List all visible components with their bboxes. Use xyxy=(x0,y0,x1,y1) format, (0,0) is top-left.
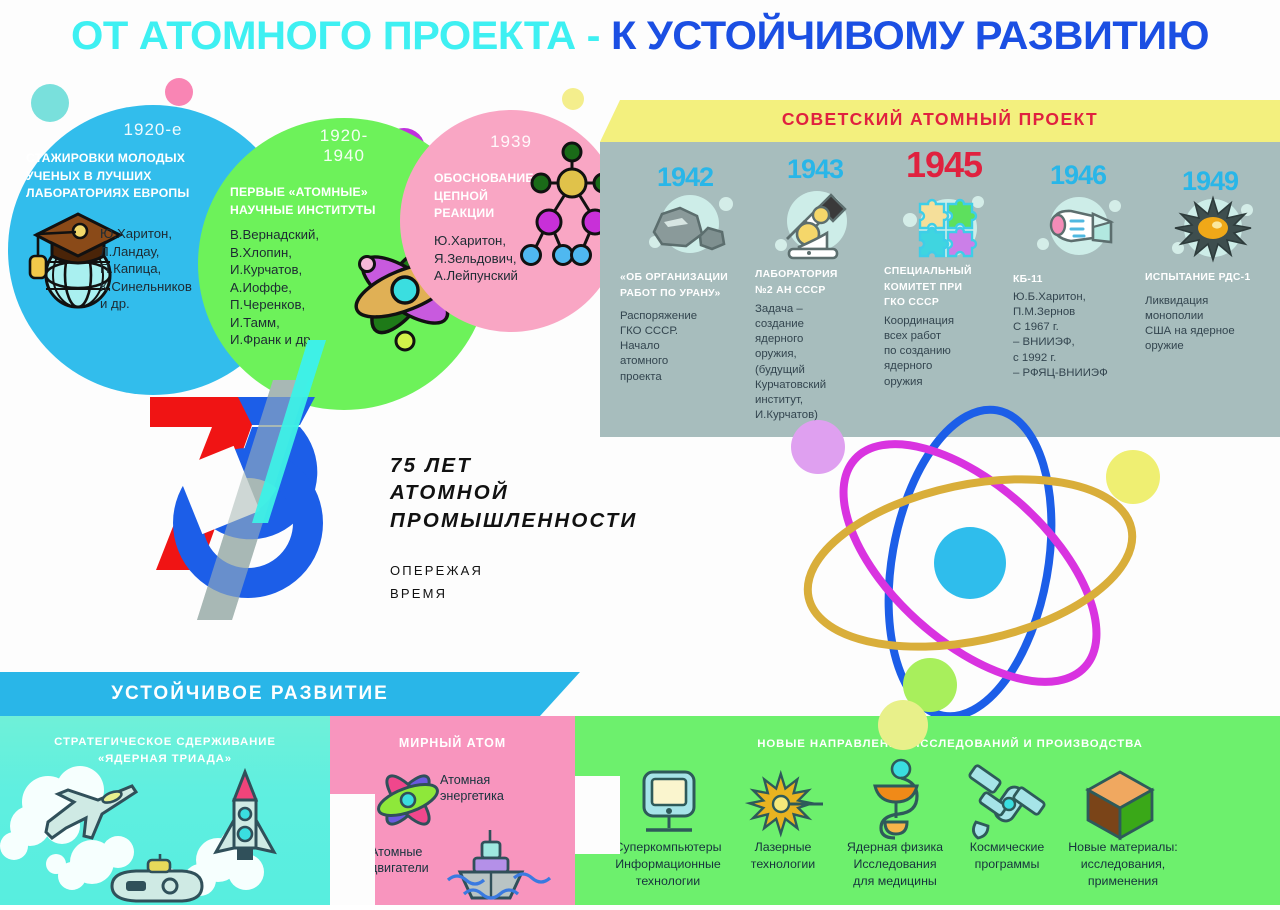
soviet-item-year: 1946 xyxy=(1013,160,1143,191)
soviet-item-heading: КБ-11 xyxy=(1013,272,1148,288)
satellite-icon xyxy=(966,764,1048,844)
panel-heading: СТРАТЕГИЧЕСКОЕ СДЕРЖИВАНИЕ «ЯДЕРНАЯ ТРИА… xyxy=(0,734,330,767)
infographic-poster: ОТ АТОМНОГО ПРОЕКТА - К УСТОЙЧИВОМУ РАЗВ… xyxy=(0,0,1280,905)
logo-title: 75 ЛЕТ АТОМНОЙ ПРОМЫШЛЕННОСТИ xyxy=(390,452,637,534)
decor-atom-illustration xyxy=(755,395,1185,725)
soviet-item-year: 1949 xyxy=(1145,166,1275,197)
soviet-item-body: Координация всех работ по созданию ядерн… xyxy=(884,314,1004,390)
soviet-item-body: Ю.Б.Харитон, П.М.Зернов С 1967 г. – ВНИИ… xyxy=(1013,290,1148,381)
sustainable-banner: УСТОЙЧИВОЕ РАЗВИТИЕ xyxy=(0,672,580,716)
decor-dot-yellow-bottom xyxy=(878,700,928,750)
soviet-project-banner-title: СОВЕТСКИЙ АТОМНЫЙ ПРОЕКТ xyxy=(600,109,1280,130)
panel-peaceful-atom[interactable]: МИРНЫЙ АТОМ Атомная энергетика xyxy=(330,716,575,905)
panel-heading: НОВЫЕ НАПРАВЛЕНИЯ ИССЛЕДОВАНИЙ И ПРОИЗВО… xyxy=(620,736,1280,753)
submarine-icon xyxy=(102,858,212,910)
tile-label-new-materials: Новые материалы: исследования, применени… xyxy=(1048,839,1198,890)
logo-75-mark xyxy=(140,335,390,625)
anniversary-logo xyxy=(140,335,390,625)
decor-dot-teal xyxy=(31,84,69,122)
decor-dot-pink xyxy=(165,78,193,106)
uranium-ore-icon xyxy=(642,194,742,264)
soviet-project-banner: СОВЕТСКИЙ АТОМНЫЙ ПРОЕКТ xyxy=(600,100,1280,142)
decor-dot-yellow xyxy=(562,88,584,110)
rocket-icon xyxy=(206,768,284,883)
medical-caduceus-icon xyxy=(855,760,937,844)
bomb-icon xyxy=(1031,194,1131,264)
panel-heading: МИРНЫЙ АТОМ xyxy=(330,734,575,752)
soviet-project-panel: 1942 «ОБ ОРГАНИЗАЦИИ РАБОТ ПО УРАНУ» Рас… xyxy=(600,142,1280,437)
soviet-item-year: 1942 xyxy=(620,162,750,193)
soviet-item-body: Распоряжение ГКО СССР. Начало атомного п… xyxy=(620,309,755,385)
panel-label-nuclear-engines: Атомные двигатели xyxy=(370,844,460,877)
cube-icon xyxy=(1082,768,1158,842)
soviet-item-year: 1943 xyxy=(755,154,875,185)
timeline-circle-1939[interactable]: 1939 ОБОСНОВАНИЕ ЦЕПНОЙ РЕАКЦИИ Ю.Харито… xyxy=(400,110,622,332)
computer-monitor-icon xyxy=(630,768,708,844)
page-title: ОТ АТОМНОГО ПРОЕКТА - К УСТОЙЧИВОМУ РАЗВ… xyxy=(0,14,1280,59)
jet-plane-icon xyxy=(36,776,146,854)
nuclear-ship-icon xyxy=(448,828,558,902)
puzzle-pieces-icon xyxy=(896,194,996,266)
sustainable-banner-title: УСТОЙЧИВОЕ РАЗВИТИЕ xyxy=(0,683,500,705)
soviet-item-heading: «ОБ ОРГАНИЗАЦИИ РАБОТ ПО УРАНУ» xyxy=(620,270,755,301)
soviet-item-year: 1945 xyxy=(884,144,1004,186)
page-title-part2: К УСТОЙЧИВОМУ РАЗВИТИЮ xyxy=(611,14,1209,58)
soviet-item-heading: ИСПЫТАНИЕ РДС-1 xyxy=(1145,270,1280,286)
soviet-item-body: Ликвидация монополии США на ядерное оруж… xyxy=(1145,294,1280,355)
soviet-item-heading: ЛАБОРАТОРИЯ №2 АН СССР xyxy=(755,267,880,298)
panel-strategic-deterrence[interactable]: СТРАТЕГИЧЕСКОЕ СДЕРЖИВАНИЕ «ЯДЕРНАЯ ТРИА… xyxy=(0,716,330,905)
timeline-names: В.Вернадский, В.Хлопин, И.Курчатов, А.Ио… xyxy=(230,226,360,349)
logo-tagline: ОПЕРЕЖАЯ ВРЕМЯ xyxy=(390,560,483,606)
panel-label-nuclear-power: Атомная энергетика xyxy=(440,772,560,805)
microscope-icon xyxy=(765,187,865,269)
atom-icon xyxy=(372,764,444,836)
page-title-part1: ОТ АТОМНОГО ПРОЕКТА - xyxy=(71,14,611,58)
explosion-burst-icon xyxy=(1165,196,1265,266)
soviet-item-heading: СПЕЦИАЛЬНЫЙ КОМИТЕТ ПРИ ГКО СССР xyxy=(884,264,1004,311)
laser-burst-icon xyxy=(743,768,823,844)
